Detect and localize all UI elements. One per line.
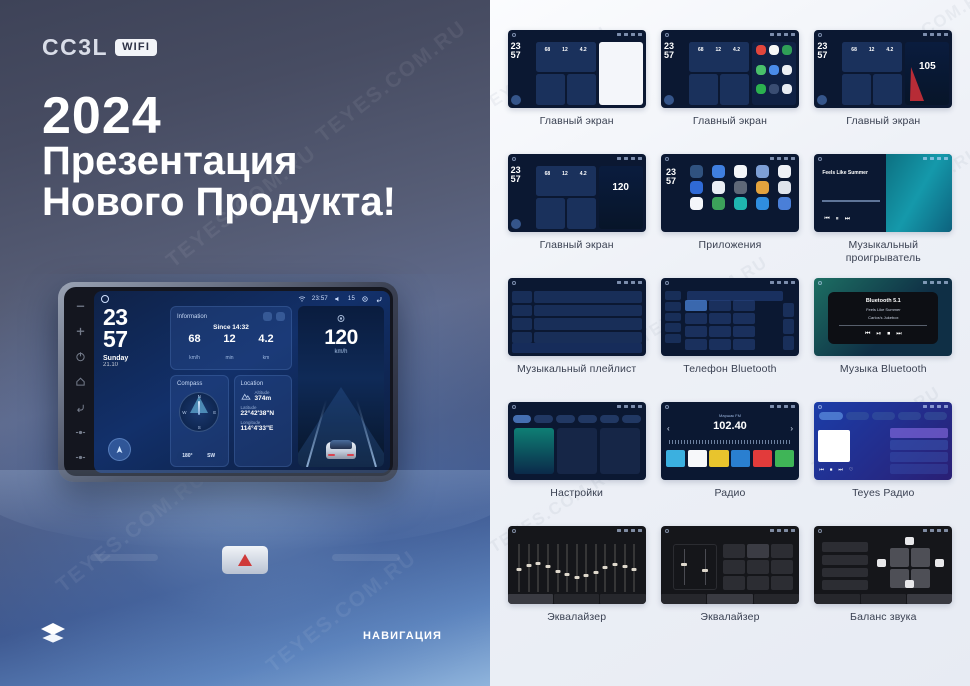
preset-tile <box>709 450 728 467</box>
car-model <box>326 433 356 459</box>
volume-icon[interactable] <box>334 295 342 303</box>
compass-location-row: Compass N E S W 180° <box>170 375 292 467</box>
radio-frequency: 102.40 <box>661 420 799 432</box>
stat-value: 68 <box>188 334 200 346</box>
balance-presets[interactable] <box>822 542 868 590</box>
presentation-page: TEYES.COM.RU TEYES.COM.RU TEYES.COM.RU T… <box>0 0 970 686</box>
clock-day: Sunday <box>100 355 164 362</box>
clock-date: 21.10 <box>100 362 164 368</box>
layers-icon[interactable] <box>40 622 66 644</box>
wifi-card[interactable] <box>514 428 554 474</box>
gallery-item[interactable]: Музыкальный плейлист <box>504 278 649 398</box>
app-icon[interactable] <box>712 181 725 194</box>
clock-hours: 23 <box>100 306 164 328</box>
navigation-label: НАВИГАЦИЯ <box>363 630 442 642</box>
thumbnail-apps[interactable]: 2357 <box>661 154 799 232</box>
phone-sidebar[interactable] <box>665 291 681 343</box>
gallery-item-label: Радио <box>714 487 745 500</box>
longitude-value: 114°4'33"E <box>241 425 286 432</box>
hero-panel: TEYES.COM.RU TEYES.COM.RU TEYES.COM.RU T… <box>0 0 490 686</box>
preset-tile <box>775 450 794 467</box>
compass-point-n: N <box>198 394 201 399</box>
thumbnail-playlist[interactable] <box>508 278 646 356</box>
playback-controls[interactable]: ⏮ ⏯ ⏹ ⏭ <box>865 331 902 338</box>
next-icon[interactable]: ⏭ <box>838 467 843 473</box>
eq-band <box>592 540 599 592</box>
album-art <box>818 430 850 462</box>
gear-icon[interactable] <box>361 295 369 303</box>
favorite-icon <box>783 303 794 317</box>
statusbar-volume-value: 15 <box>348 296 355 302</box>
favorite-icon[interactable]: ♡ <box>849 467 853 473</box>
mini-player-bar[interactable] <box>512 343 642 353</box>
home-icon[interactable] <box>75 376 86 387</box>
product-logo: CC3L WIFI <box>42 34 157 61</box>
lane-warning-panel: 105 <box>905 42 949 105</box>
gallery-item-label: Teyes Радио <box>852 487 914 500</box>
gallery-item[interactable]: Эквалайзер <box>657 526 802 646</box>
gallery-grid: 23 57 68124.2 Главный экран 2357 <box>504 30 956 646</box>
gallery-item[interactable]: Маршак FM 102.40 ‹ › Радио <box>657 402 802 522</box>
gallery-item-label: Музыка Bluetooth <box>840 363 927 376</box>
list-item <box>822 542 868 552</box>
speed-unit: km/h <box>298 349 384 355</box>
radio-dial-scale[interactable] <box>669 440 791 444</box>
app-icon[interactable] <box>778 165 791 178</box>
power-icon[interactable] <box>75 351 86 362</box>
compass-point-s: S <box>198 425 201 430</box>
gallery-item-label: Баланс звука <box>850 611 917 624</box>
settings-tabs[interactable] <box>513 415 641 423</box>
dashboard-highlight <box>0 470 490 550</box>
car-taillight-right <box>347 454 354 457</box>
tab-apps <box>600 415 619 423</box>
latitude-value: 22°42'38"N <box>241 410 286 417</box>
wifi-icon <box>298 295 306 303</box>
eq-mode-buttons[interactable] <box>723 544 793 590</box>
gallery-item-label: Эквалайзер <box>547 611 606 624</box>
stat-item: 68 km/h <box>188 334 200 364</box>
air-vent-right <box>332 554 400 561</box>
gallery-item[interactable]: 2357 68124.2 105 Главный экран <box>811 30 956 150</box>
prev-station-icon[interactable]: ‹ <box>667 424 670 433</box>
album-art <box>599 42 643 105</box>
more-card[interactable] <box>600 428 640 474</box>
gallery-item[interactable]: 23 57 68124.2 Главный экран <box>504 30 649 150</box>
navigation-arrow-icon[interactable] <box>664 95 674 105</box>
app-icon[interactable] <box>778 197 791 210</box>
app-shortcut-strip[interactable] <box>752 42 796 105</box>
information-card[interactable]: Information Since 14:32 68 km/h <box>170 306 292 370</box>
mode-icon[interactable] <box>75 452 86 463</box>
compass-card-title: Compass <box>177 381 222 387</box>
fader-group[interactable] <box>673 544 717 590</box>
thumbnail-bt-phone[interactable] <box>661 278 799 356</box>
location-altitude: Altitude 374m <box>241 390 286 402</box>
gallery-item[interactable]: 2357 68124.2 Главный экран <box>657 30 802 150</box>
speed-value: 120 <box>298 326 384 350</box>
watermark: TEYES.COM.RU <box>312 16 472 148</box>
playback-controls[interactable]: ⏮ ⏸ ⏭ <box>824 216 850 223</box>
eq-band <box>516 540 523 592</box>
gallery-item[interactable]: Эквалайзер <box>504 526 649 646</box>
gallery-item-label: Эквалайзер <box>700 611 759 624</box>
thumbnail-balance[interactable] <box>814 526 952 604</box>
hero-headline-line2: Нового Продукта! <box>42 181 396 224</box>
refresh-icon[interactable] <box>263 312 272 321</box>
thumbnail-bt-music[interactable]: Bluetooth 5.1 Feels Like Summer Carlos's… <box>814 278 952 356</box>
progress-bar[interactable] <box>839 325 927 326</box>
hazard-button[interactable] <box>222 546 268 574</box>
app-icon[interactable] <box>756 197 769 210</box>
gallery-item-label: Главный экран <box>540 115 614 128</box>
compass-readout: 180° SW <box>177 451 222 461</box>
speaker-fl <box>890 548 909 567</box>
bluetooth-version: Bluetooth 5.1 <box>866 298 901 304</box>
stat-unit: min <box>225 355 233 361</box>
balance-left-button[interactable] <box>877 559 886 567</box>
fader <box>684 549 685 585</box>
eq-band <box>554 540 561 592</box>
gallery-item-label: Телефон Bluetooth <box>683 363 776 376</box>
list-item <box>890 452 948 462</box>
bluetooth-artist: Carlos's Jukebox <box>868 315 898 320</box>
eq-band <box>602 540 609 592</box>
screen-content: 23 57 Sunday 21.10 Information <box>100 306 384 467</box>
information-card-actions[interactable] <box>263 312 285 321</box>
stat-item: 4.2 km <box>258 334 273 364</box>
eq-band <box>544 540 551 592</box>
app-icon[interactable] <box>734 197 747 210</box>
mountain-icon <box>241 392 251 400</box>
list-item <box>534 305 642 317</box>
information-card-header: Information <box>177 312 285 321</box>
speed-limit-icon <box>337 314 346 323</box>
gallery-item-label: Главный экран <box>846 115 920 128</box>
back-arrow-icon[interactable] <box>375 295 383 303</box>
settings-cards[interactable] <box>514 428 640 474</box>
app-icon[interactable] <box>756 181 769 194</box>
stat-value: 12 <box>223 334 235 346</box>
statusbar-time: 23:57 <box>312 296 328 302</box>
list-item <box>534 332 642 344</box>
thumbnail-home-apps[interactable]: 2357 68124.2 <box>661 30 799 108</box>
fader <box>705 549 706 585</box>
gallery-item[interactable]: Баланс звука <box>811 526 956 646</box>
app-icon[interactable] <box>690 197 703 210</box>
car-window <box>330 440 352 449</box>
thumb-clock-minutes: 57 <box>511 50 521 60</box>
music-track-title: Feels Like Summer <box>822 170 868 176</box>
stop-icon[interactable]: ⏹ <box>887 331 890 338</box>
balance-down-button[interactable] <box>905 580 914 588</box>
information-stats: 68 km/h 12 min 4.2 km <box>177 334 285 364</box>
app-icon[interactable] <box>734 165 747 178</box>
equalizer-presets[interactable] <box>661 594 799 604</box>
compass-point-e: E <box>213 410 216 415</box>
gallery-item-label: Приложения <box>699 239 762 252</box>
equalizer-bands[interactable] <box>516 540 638 592</box>
equalizer-presets[interactable] <box>508 594 646 604</box>
next-station-icon[interactable]: › <box>790 424 793 433</box>
logo-wifi-badge: WIFI <box>115 39 157 56</box>
preset-tile <box>731 450 750 467</box>
car-dashboard <box>0 470 490 686</box>
air-vent-left <box>90 554 158 561</box>
previous-icon[interactable]: ⏮ <box>824 216 829 223</box>
dial-keypad[interactable] <box>685 300 755 350</box>
radio-presets[interactable] <box>666 450 794 467</box>
preset-tile <box>688 450 707 467</box>
compass-card[interactable]: Compass N E S W 180° <box>170 375 229 467</box>
volume-down-icon[interactable] <box>75 301 86 312</box>
logo-text: CC3L <box>42 34 108 61</box>
gallery-item-label: Музыкальный проигрыватель <box>811 239 956 265</box>
playlist-rows[interactable] <box>534 291 642 343</box>
tab-sound <box>534 415 553 423</box>
compass-needle <box>198 401 200 415</box>
bluetooth-track: Feels Like Summer <box>866 307 900 312</box>
next-icon[interactable]: ⏭ <box>845 216 850 223</box>
play-pause-icon[interactable]: ⏯ <box>876 331 881 338</box>
thumb-statusbar <box>508 30 646 39</box>
thumb-speed-value: 120 <box>599 182 643 193</box>
volume-up-icon[interactable] <box>75 326 86 337</box>
head-unit-screen[interactable]: 23:57 15 23 57 Sunday 21.10 <box>94 291 390 473</box>
apps-grid[interactable] <box>687 165 795 228</box>
stat-item: 12 min <box>223 334 235 364</box>
gallery-item[interactable]: Настройки <box>504 402 649 522</box>
playback-controls[interactable]: ⏮ ⏹ ⏭ ♡ <box>819 467 853 473</box>
hero-year: 2024 <box>42 90 162 142</box>
back-icon[interactable] <box>75 402 86 413</box>
eq-band <box>621 540 628 592</box>
thumbnail-equalizer-2[interactable] <box>661 526 799 604</box>
navigation-arrow-icon[interactable] <box>511 219 521 229</box>
speaker-fr <box>911 548 930 567</box>
preset-tile <box>753 450 772 467</box>
mic-icon[interactable] <box>75 427 86 438</box>
hazard-triangle-icon <box>238 554 252 566</box>
gallery-item[interactable]: Телефон Bluetooth <box>657 278 802 398</box>
next-icon[interactable]: ⏭ <box>896 331 901 338</box>
statusbar-right: 23:57 15 <box>298 295 383 303</box>
gallery-item[interactable]: ⏮ ⏹ ⏭ ♡ Teyes Радио <box>811 402 956 522</box>
screen-statusbar: 23:57 15 <box>94 291 390 306</box>
app-icon[interactable] <box>734 181 747 194</box>
tab-system <box>578 415 597 423</box>
screenshot-gallery: TEYES.COM.RU TEYES.COM.RU TEYES.COM.RU T… <box>490 0 970 686</box>
eq-band <box>611 540 618 592</box>
phone-actions[interactable] <box>783 303 794 350</box>
gallery-item[interactable]: 2357 68124.2 120 Главный экран <box>504 154 649 274</box>
compass-degrees: 180° <box>177 451 198 461</box>
stat-unit: km <box>263 355 270 361</box>
head-unit-side-buttons[interactable] <box>70 294 90 470</box>
location-card[interactable]: Location Altitude 374m Latitude <box>234 375 293 467</box>
navigation-arrow-icon[interactable] <box>511 95 521 105</box>
thumbnail-equalizer[interactable] <box>508 526 646 604</box>
app-icon[interactable] <box>690 181 703 194</box>
history-icon <box>783 319 794 333</box>
car-taillight-left <box>328 454 335 457</box>
location-card-title: Location <box>241 381 286 387</box>
lane-warning-red <box>905 67 924 101</box>
eq-band <box>564 540 571 592</box>
location-longitude: Longitude 114°4'33"E <box>241 420 286 432</box>
stat-unit: km/h <box>189 355 200 361</box>
teyes-radio-tabs[interactable] <box>819 412 947 420</box>
previous-icon[interactable]: ⏮ <box>865 331 870 338</box>
list-item <box>534 318 642 330</box>
playlist-sidebar[interactable] <box>512 291 532 343</box>
thumbnail-home-music[interactable]: 23 57 68124.2 <box>508 30 646 108</box>
progress-bar[interactable] <box>822 200 880 202</box>
thumbnail-home-lane-warning[interactable]: 2357 68124.2 105 <box>814 30 952 108</box>
compass-direction: SW <box>201 451 222 461</box>
compass-dial: N E S W <box>179 392 219 432</box>
stat-value: 4.2 <box>258 334 273 346</box>
station-list[interactable] <box>890 428 948 474</box>
preset-tile <box>666 450 685 467</box>
gallery-item-label: Музыкальный плейлист <box>517 363 636 376</box>
carplay-card[interactable] <box>557 428 597 474</box>
thumbnail-home-speed[interactable]: 2357 68124.2 120 <box>508 154 646 232</box>
gallery-item-label: Главный экран <box>540 239 614 252</box>
eq-band <box>535 540 542 592</box>
app-icon[interactable] <box>712 165 725 178</box>
tab-about <box>622 415 641 423</box>
list-item <box>890 440 948 450</box>
list-item <box>890 464 948 474</box>
gallery-item-label: Главный экран <box>693 115 767 128</box>
list-item <box>890 428 948 438</box>
balance-up-button[interactable] <box>905 537 914 545</box>
compass-point-w: W <box>182 410 186 415</box>
balance-right-button[interactable] <box>935 559 944 567</box>
gallery-item[interactable]: Bluetooth 5.1 Feels Like Summer Carlos's… <box>811 278 956 398</box>
list-item <box>534 291 642 303</box>
speed-lane-panel[interactable]: 120 km/h <box>298 306 384 467</box>
app-icon[interactable] <box>690 165 703 178</box>
eq-band <box>573 540 580 592</box>
gallery-item[interactable]: 2357 <box>657 154 802 274</box>
speaker-rr <box>911 569 930 588</box>
speed-panel: 120 <box>599 166 643 229</box>
pause-icon[interactable]: ⏸ <box>836 216 839 223</box>
head-unit-device: 23:57 15 23 57 Sunday 21.10 <box>58 282 398 482</box>
navigation-arrow-icon[interactable] <box>108 438 131 461</box>
previous-icon[interactable]: ⏮ <box>819 467 824 473</box>
home-icon[interactable] <box>101 295 109 303</box>
expand-icon[interactable] <box>276 312 285 321</box>
since-label: Since 14:32 <box>177 324 285 331</box>
list-item <box>822 555 868 565</box>
bluetooth-card: Bluetooth 5.1 Feels Like Summer Carlos's… <box>828 292 938 344</box>
tab-wifi <box>513 415 532 423</box>
clock-minutes: 57 <box>100 328 164 350</box>
information-card-title: Information <box>177 314 207 320</box>
eq-band <box>525 540 532 592</box>
list-item <box>822 568 868 578</box>
thumbnail-teyes-radio[interactable]: ⏮ ⏹ ⏭ ♡ <box>814 402 952 480</box>
radio-station-name: Маршак FM <box>661 413 799 418</box>
altitude-label: Altitude <box>255 390 272 395</box>
music-visualizer <box>886 154 952 232</box>
eq-band <box>583 540 590 592</box>
thumbnail-radio[interactable]: Маршак FM 102.40 ‹ › <box>661 402 799 480</box>
app-icon[interactable] <box>756 165 769 178</box>
thumbnail-settings[interactable] <box>508 402 646 480</box>
call-icon <box>783 336 794 350</box>
app-icon[interactable] <box>778 181 791 194</box>
tab-display <box>556 415 575 423</box>
thumbnail-music-player[interactable]: Feels Like Summer ⏮ ⏸ ⏭ <box>814 154 952 232</box>
gallery-item[interactable]: Feels Like Summer ⏮ ⏸ ⏭ Музыкальный прои… <box>811 154 956 274</box>
gallery-item-label: Настройки <box>550 487 603 500</box>
location-latitude: Latitude 22°42'38"N <box>241 405 286 417</box>
hero-headline-line1: Презентация <box>42 140 298 183</box>
balance-tabs[interactable] <box>814 594 952 604</box>
stop-icon[interactable]: ⏹ <box>830 467 833 473</box>
altitude-value: 374m <box>255 395 272 402</box>
eq-band <box>631 540 638 592</box>
thumb-speed-value: 105 <box>905 61 949 72</box>
cards-column: Information Since 14:32 68 km/h <box>170 306 292 467</box>
app-icon[interactable] <box>712 197 725 210</box>
clock-column: 23 57 Sunday 21.10 <box>100 306 164 467</box>
list-item <box>822 580 868 590</box>
